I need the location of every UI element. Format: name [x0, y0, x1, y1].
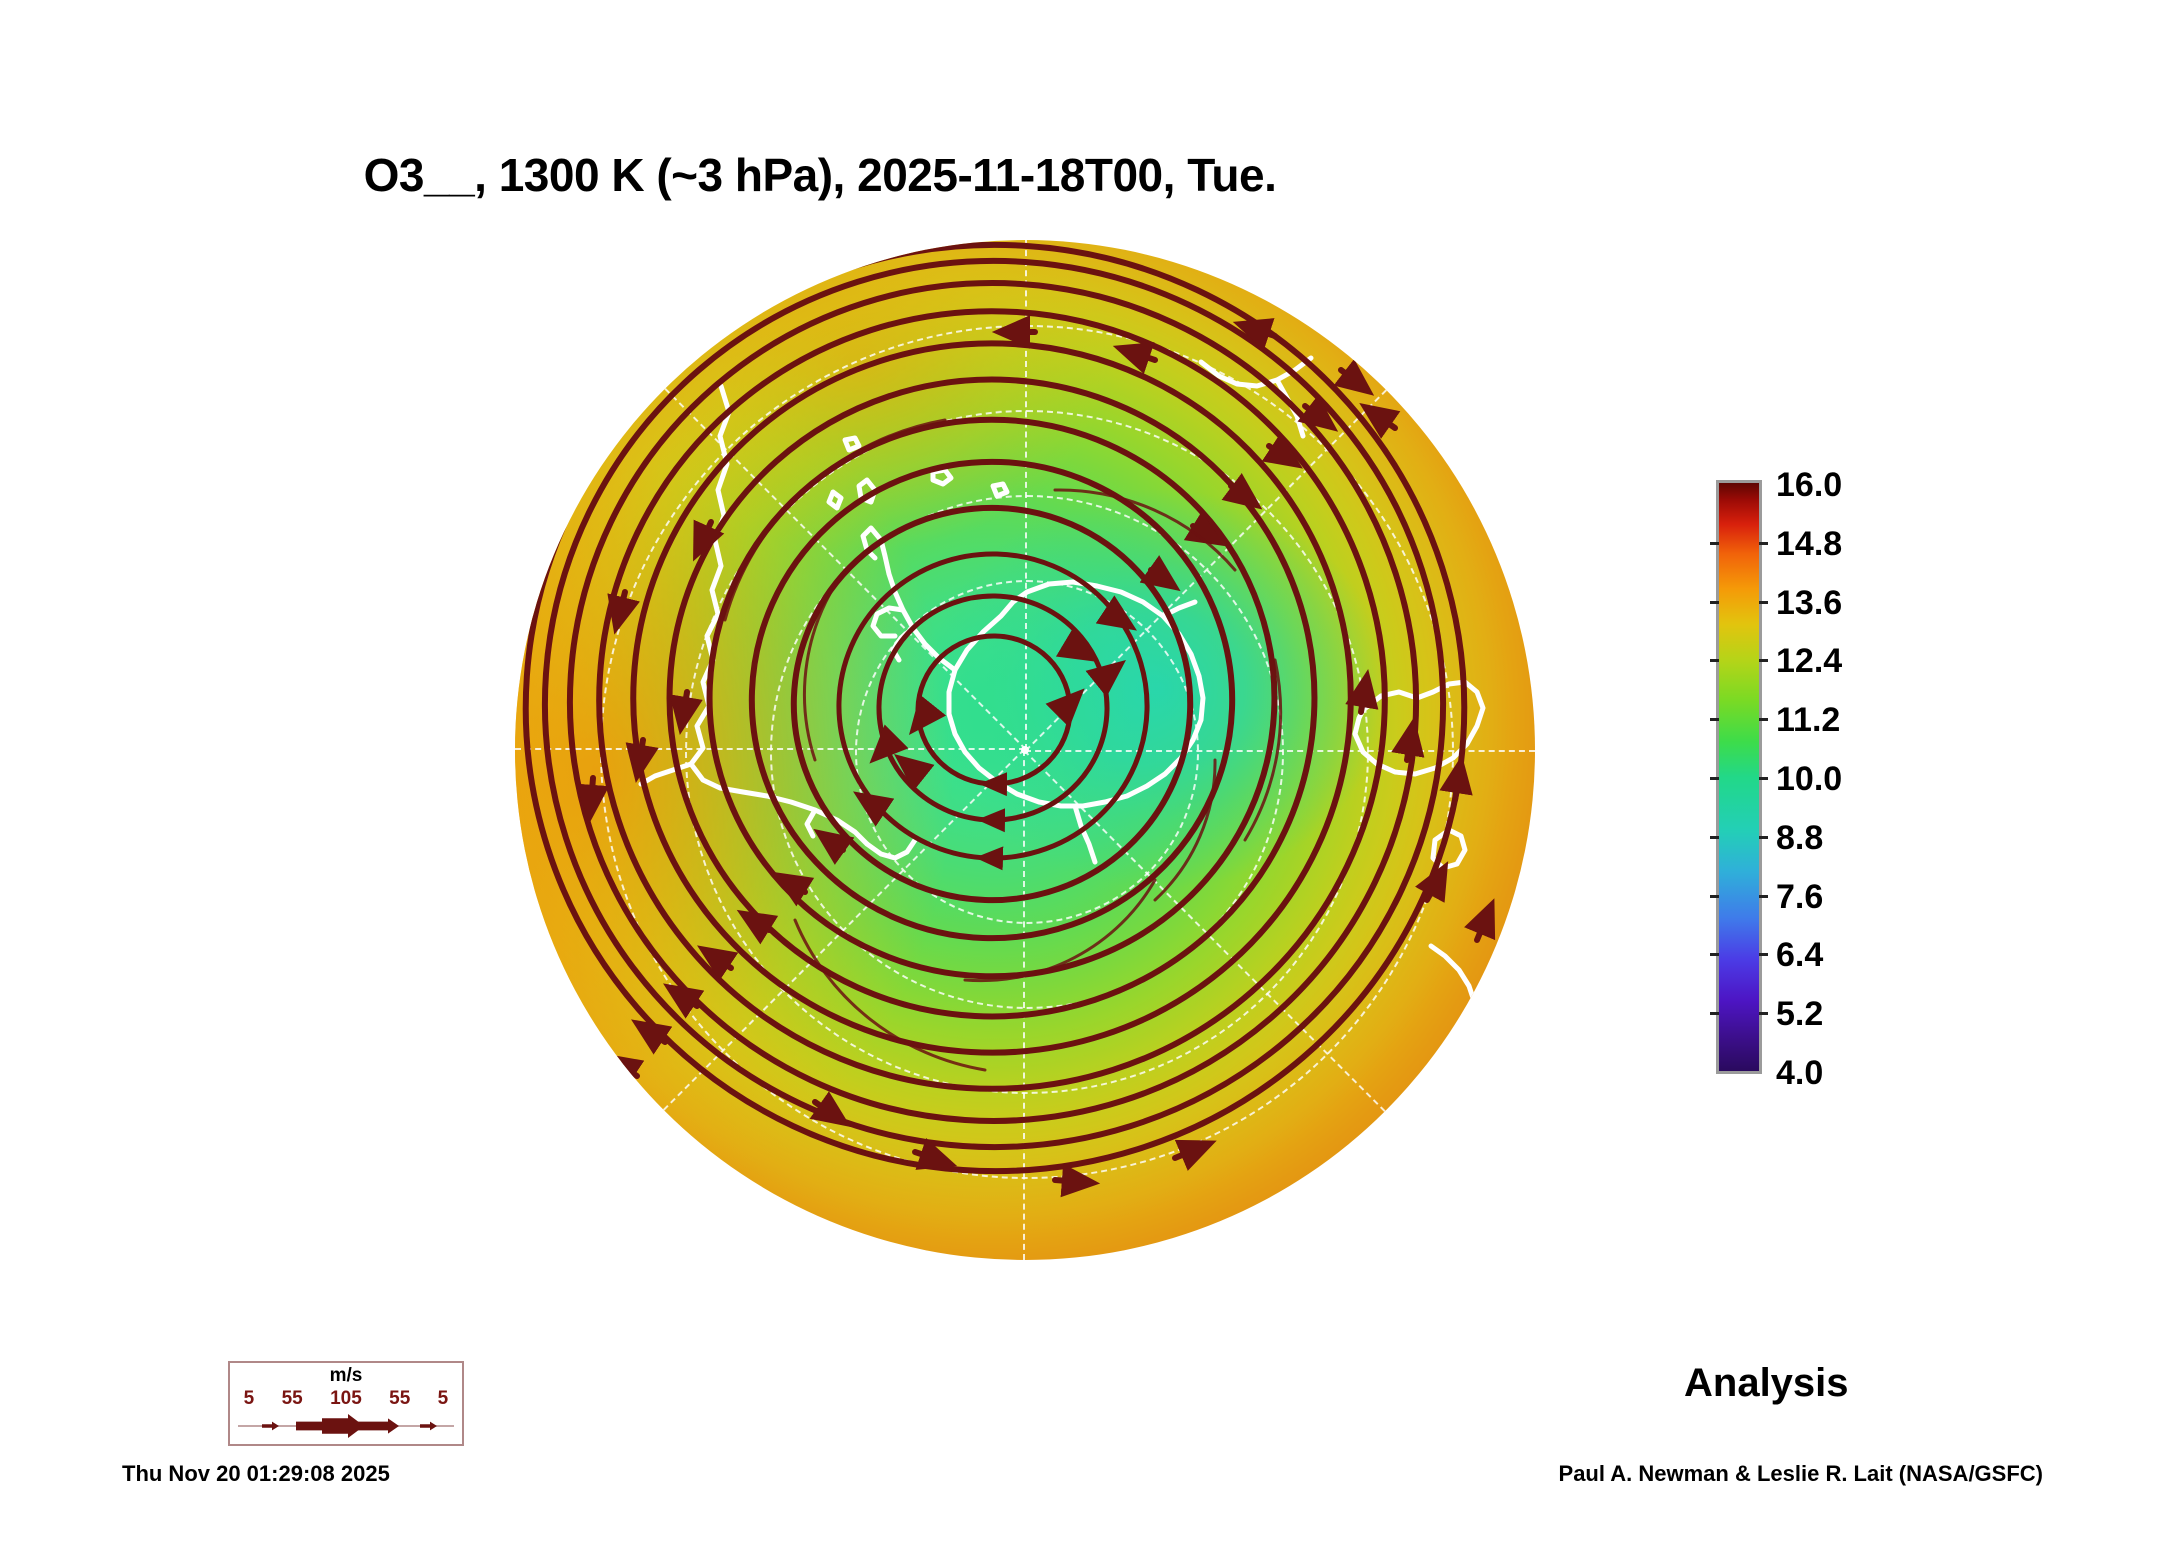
colorbar-label: 12.4 [1776, 642, 1842, 681]
colorbar-gradient [1716, 480, 1762, 1074]
wind-legend-value-2: 105 [330, 1388, 362, 1410]
wind-legend-value-1: 55 [282, 1388, 303, 1410]
polar-map-panel [375, 165, 1565, 1355]
ozone-field-globe [515, 240, 1535, 1260]
colorbar-label: 16.0 [1776, 466, 1842, 505]
colorbar-tick [1759, 542, 1768, 545]
colorbar-tick [1710, 1012, 1719, 1015]
colorbar-tick [1759, 953, 1768, 956]
colorbar-tick [1759, 718, 1768, 721]
analysis-label: Analysis [1684, 1361, 1849, 1406]
colorbar-tick [1710, 953, 1719, 956]
colorbar-label: 13.6 [1776, 584, 1842, 623]
colorbar-label: 5.2 [1776, 995, 1823, 1034]
colorbar [1716, 480, 1762, 1074]
colorbar-tick [1759, 836, 1768, 839]
wind-legend-value-4: 5 [438, 1388, 449, 1410]
wind-legend-values: 5 55 105 55 5 [230, 1388, 462, 1410]
colorbar-tick [1710, 895, 1719, 898]
colorbar-label: 8.8 [1776, 819, 1823, 858]
colorbar-label: 11.2 [1776, 701, 1840, 740]
colorbar-tick [1710, 777, 1719, 780]
wind-legend-arrow-scale [238, 1413, 454, 1439]
colorbar-tick [1759, 895, 1768, 898]
globe-limb-shading [515, 240, 1535, 1260]
colorbar-label: 6.4 [1776, 936, 1823, 975]
colorbar-label: 4.0 [1776, 1054, 1823, 1093]
colorbar-tick [1710, 718, 1719, 721]
generation-timestamp: Thu Nov 20 01:29:08 2025 [122, 1461, 390, 1487]
colorbar-label: 14.8 [1776, 525, 1842, 564]
colorbar-label: 10.0 [1776, 760, 1842, 799]
wind-speed-legend: m/s 5 55 105 55 5 [228, 1361, 464, 1446]
author-credit: Paul A. Newman & Leslie R. Lait (NASA/GS… [1559, 1461, 2043, 1487]
colorbar-tick [1710, 659, 1719, 662]
colorbar-label: 7.6 [1776, 878, 1823, 917]
wind-legend-value-3: 55 [389, 1388, 410, 1410]
wind-legend-value-0: 5 [244, 1388, 255, 1410]
colorbar-tick [1759, 601, 1768, 604]
colorbar-tick [1759, 659, 1768, 662]
colorbar-tick [1710, 542, 1719, 545]
colorbar-tick [1759, 1012, 1768, 1015]
colorbar-tick [1710, 836, 1719, 839]
wind-legend-unit: m/s [230, 1365, 462, 1387]
colorbar-tick [1759, 777, 1768, 780]
colorbar-tick [1710, 601, 1719, 604]
